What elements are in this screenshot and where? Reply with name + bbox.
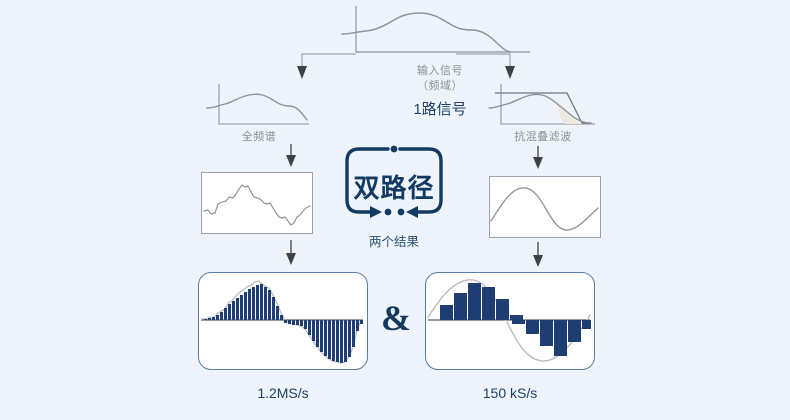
high-rate-sampled-waveform [199,273,365,367]
left-flow-arrow-2 [283,240,299,266]
signal-split-connectors [286,46,526,82]
ampersand-connector: & [381,300,411,336]
bracket-dot-right [398,209,405,216]
low-rate-sample-label: 150 kS/s [425,385,595,401]
full-spectrum-waveform [202,173,312,233]
bracket-left-arrowhead [370,206,382,218]
full-spectrum-caption: 全频谱 [205,128,313,144]
bracket-right-arrowhead [406,206,418,218]
right-flow-arrow [530,146,546,170]
diagram-canvas: 输入信号 （频域） 1路信号 全频谱 [0,0,790,420]
filtered-sine-waveform [490,177,600,237]
right-flow-arrow-2 [530,242,546,268]
anti-alias-filter-chart [487,82,599,132]
anti-alias-filter-caption: 抗混叠滤波 [487,128,599,144]
high-rate-sample-label: 1.2MS/s [198,385,368,401]
low-rate-sampled-waveform [426,273,592,367]
two-results-caption: 两个结果 [342,231,446,250]
full-spectrum-chart [205,82,313,132]
low-rate-sampled-panel [425,272,595,370]
left-branch-arrowhead [297,66,307,79]
bracket-top-dot [391,146,398,153]
high-rate-sampled-panel [198,272,368,370]
filtered-sine-waveform-box [489,176,601,238]
bar-group-positive [440,283,523,320]
bracket-dot-left [385,209,392,216]
right-branch-arrowhead [505,66,515,79]
bar-group-negative [284,320,363,363]
full-spectrum-waveform-box [201,172,313,234]
dual-path-title: 双路径 [342,168,446,205]
left-flow-arrow [283,144,299,168]
